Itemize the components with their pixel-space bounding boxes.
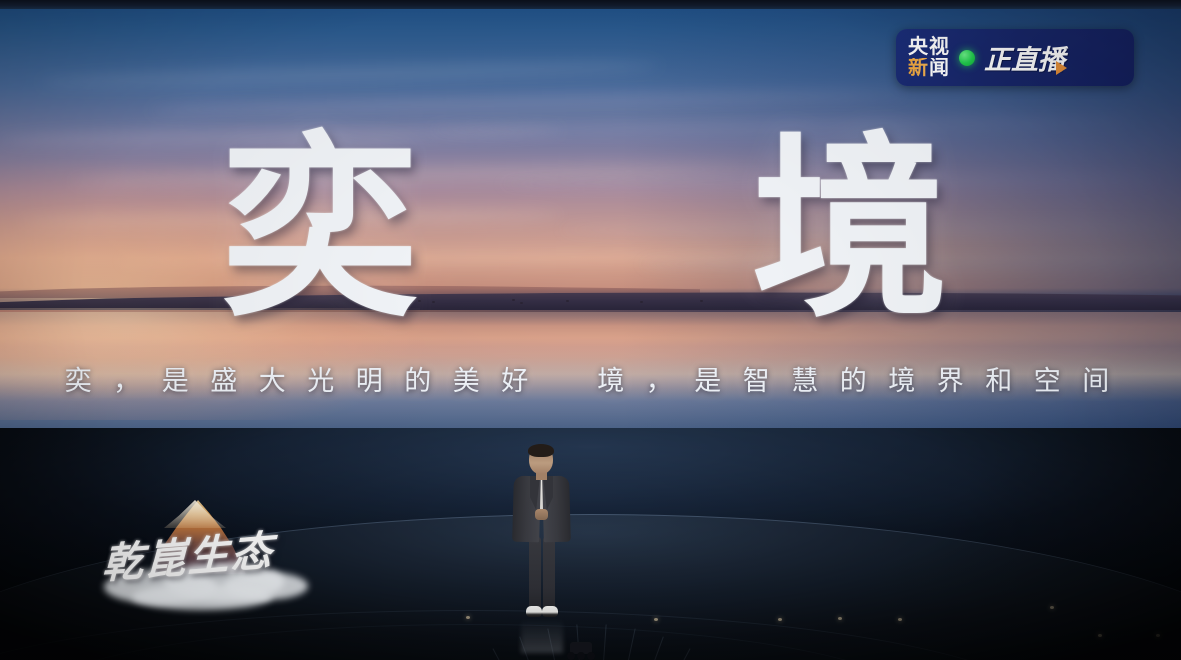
presenter-leg-right — [543, 537, 555, 609]
floor-camera-rig — [565, 640, 597, 660]
subtitle-row: 奕 ， 是 盛 大 光 明 的 美 好 境 ， 是 智 慧 的 境 界 和 空 … — [0, 358, 1181, 398]
floor-ring — [30, 624, 912, 660]
play-triangle-icon — [1056, 61, 1067, 75]
channel-name: 央视 新闻 — [908, 37, 950, 78]
floor-grid-line — [591, 636, 664, 660]
presenter-leg-left — [529, 537, 541, 609]
floor-grid-line — [591, 648, 690, 660]
live-status-label: 正直播 — [984, 38, 1065, 77]
presenter-hands — [535, 509, 548, 520]
channel-name-line-1: 央视 — [908, 37, 950, 57]
hero-character-right: 境 — [752, 132, 948, 328]
camera-wheel — [577, 652, 585, 660]
floor-grid-line — [591, 628, 636, 660]
camera-wheel — [567, 652, 575, 660]
presenter-hair — [528, 444, 554, 457]
cloud-icon — [132, 584, 272, 610]
channel-name-line-2: 新闻 — [908, 58, 950, 78]
presenter-shoe-left — [526, 606, 542, 617]
camera-wheel — [587, 652, 595, 660]
live-broadcast-badge[interactable]: 央视 新闻 正直播 — [896, 29, 1134, 86]
subtitle-right: 境 ， 是 智 慧 的 境 界 和 空 间 — [597, 359, 1116, 398]
brand-watermark: 乾崑生态 — [88, 492, 318, 620]
broadcast-screenshot: 奕 境 奕 ， 是 盛 大 光 明 的 美 好 境 ， 是 智 慧 的 境 界 … — [0, 0, 1181, 660]
subtitle-left: 奕 ， 是 盛 大 光 明 的 美 好 — [65, 359, 536, 398]
hero-character-left: 奕 — [222, 132, 418, 328]
presenter — [505, 445, 577, 625]
live-dot-icon — [959, 50, 975, 66]
presenter-shoe-right — [542, 606, 558, 617]
